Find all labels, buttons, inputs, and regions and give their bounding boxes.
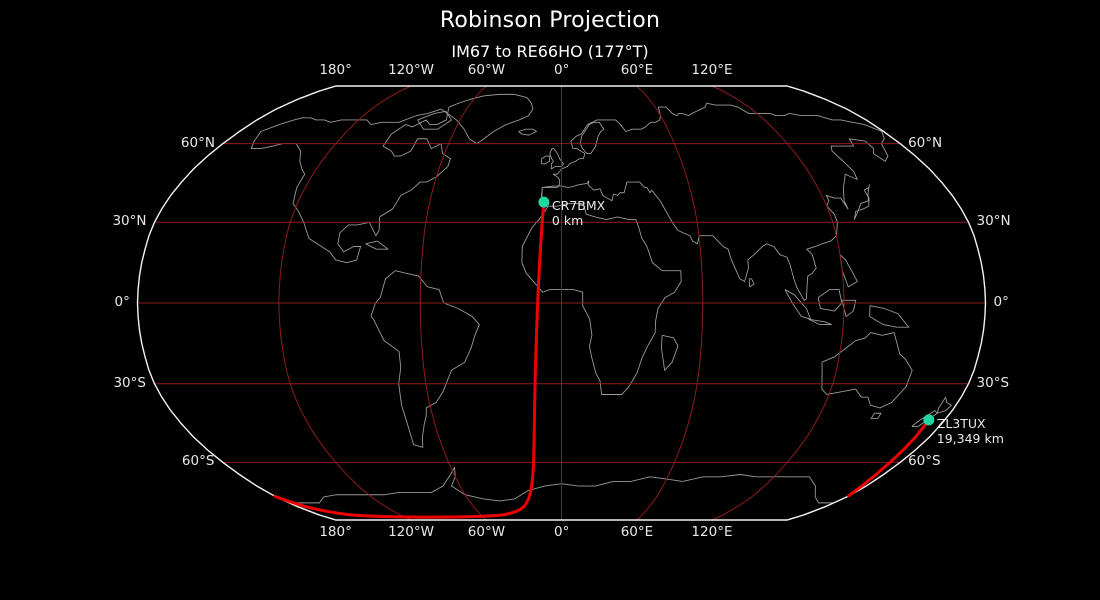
marker-label-end: ZL3TUX 19,349 km [937,416,1004,446]
lat-tick-right-3: 30°S [977,375,1010,391]
marker-label-start: CR7BMX 0 km [552,198,605,228]
marker-callsign-start: CR7BMX [552,198,605,213]
robinson-map [0,0,1100,600]
marker-distance-start: 0 km [552,213,605,228]
lat-tick-right-0: 60°N [908,135,942,151]
lon-tick-bottom-4: 60°E [621,524,653,540]
lat-tick-right-2: 0° [994,294,1009,310]
lon-tick-bottom-0: 180° [319,524,352,540]
lon-tick-bottom-3: 0° [554,524,569,540]
lon-tick-top-1: 120°W [388,62,434,78]
great-circle-path [275,202,929,517]
lon-tick-top-0: 180° [319,62,352,78]
lat-tick-left-0: 60°N [181,135,215,151]
lon-tick-top-2: 60°W [468,62,505,78]
marker-distance-end: 19,349 km [937,431,1004,446]
lat-tick-left-3: 30°S [113,375,146,391]
lon-tick-top-5: 120°E [691,62,732,78]
lon-tick-top-3: 0° [554,62,569,78]
lon-tick-bottom-5: 120°E [691,524,732,540]
station-markers [538,197,934,426]
graticule-layer [138,86,986,520]
coastlines-layer [251,94,951,514]
marker-callsign-end: ZL3TUX [937,416,1004,431]
lon-tick-bottom-1: 120°W [388,524,434,540]
lat-tick-right-4: 60°S [908,453,941,469]
lat-tick-left-1: 30°N [112,213,146,229]
map-page: Robinson Projection IM67 to RE66HO (177°… [0,0,1100,600]
lat-tick-left-2: 0° [115,294,130,310]
lon-tick-top-4: 60°E [621,62,653,78]
marker-dot-start [538,197,549,208]
lat-tick-left-4: 60°S [182,453,215,469]
lat-tick-right-1: 30°N [977,213,1011,229]
marker-dot-end [923,414,934,425]
lon-tick-bottom-2: 60°W [468,524,505,540]
